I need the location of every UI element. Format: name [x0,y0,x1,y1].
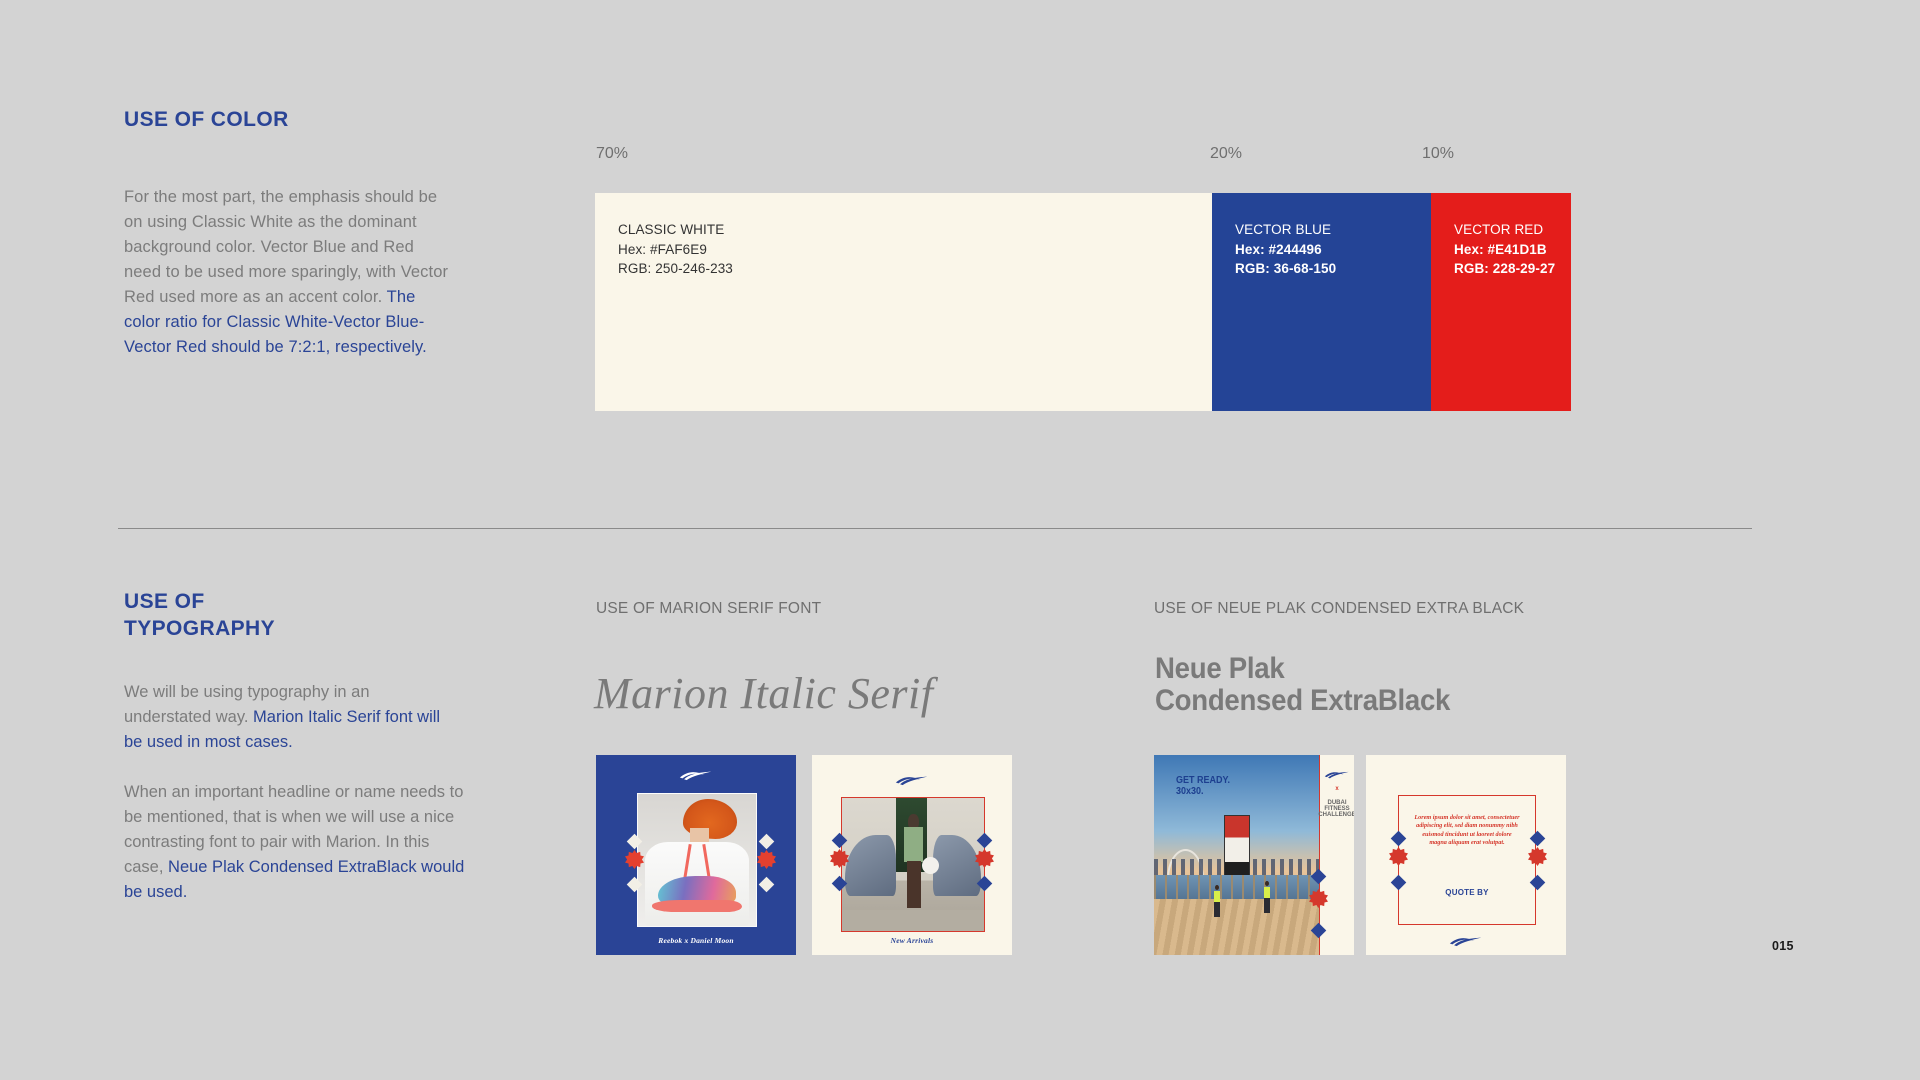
quote-frame: Lorem ipsum dolor sit amet, consectetuer… [1398,795,1536,925]
poster-sidebar: x DUBAI FITNESS CHALLENGE [1319,755,1354,955]
photo-helmet [922,857,939,874]
swatch-rgb: RGB: 250-246-233 [618,259,733,279]
brand-line3: CHALLENGE [1318,812,1354,818]
poster-photo-frame [841,797,985,932]
typography-body-copy-1: We will be using typography in an unders… [124,680,454,755]
brand-guidelines-page: USE OF COLOR For the most part, the emph… [0,0,1920,1080]
photo-sneaker [652,876,742,916]
rosette-decoration-icon [757,850,776,869]
thumbnail-reebok-daniel-moon[interactable]: Reebok x Daniel Moon [596,755,796,955]
swatch-name: VECTOR BLUE [1235,220,1336,240]
thumbnail-caption: Reebok x Daniel Moon [596,936,796,945]
typo-title-line2: TYPOGRAPHY [124,617,275,640]
swatch-rgb: RGB: 228-29-27 [1454,259,1555,279]
typography-body-copy-2: When an important headline or name needs… [124,780,469,905]
photo-runner [1264,887,1270,913]
rosette-decoration-icon [975,849,994,868]
swatch-vector-red: VECTOR RED Hex: #E41D1B RGB: 228-29-27 [1431,193,1571,411]
reebok-logo-icon [895,773,929,785]
specimen-caption-marion: USE OF MARION SERIF FONT [596,600,821,618]
swatch-vector-blue: VECTOR BLUE Hex: #244496 RGB: 36-68-150 [1212,193,1431,411]
quote-attribution: QUOTE BY [1399,888,1535,897]
use-of-color-body-copy: For the most part, the emphasis should b… [124,185,454,360]
typo-title-line1: USE OF [124,590,205,613]
specimen-sample-marion: Marion Italic Serif [594,668,933,719]
photo-ground [842,910,984,931]
specimen-sample-neue-plak: Neue Plak Condensed ExtraBlack [1155,653,1450,717]
plak-sample-line1: Neue Plak [1155,652,1284,685]
swatch-hex: Hex: #E41D1B [1454,240,1555,260]
rosette-decoration-icon [830,849,849,868]
ratio-label-red: 10% [1422,145,1454,163]
poster-headline: GET READY. 30x30. [1176,775,1230,797]
swatch-vector-blue-label: VECTOR BLUE Hex: #244496 RGB: 36-68-150 [1235,220,1336,279]
quote-text: Lorem ipsum dolor sit amet, consectetuer… [1413,814,1521,848]
plak-sample-line2: Condensed ExtraBlack [1155,684,1450,717]
reebok-logo-icon [1449,934,1483,946]
rosette-decoration-icon [625,850,644,869]
color-swatch-bar: CLASSIC WHITE Hex: #FAF6E9 RGB: 250-246-… [595,193,1571,411]
diamond-decoration-icon [759,877,775,893]
swatch-hex: Hex: #244496 [1235,240,1336,260]
reebok-logo-icon [679,768,713,780]
swatch-name: VECTOR RED [1454,220,1555,240]
typo-copy2-accent: Neue Plak Condensed ExtraBlack would be … [124,858,464,901]
page-number: 015 [1772,939,1794,953]
photo-runner [1214,891,1220,917]
poster-photo: GET READY. 30x30. [1154,755,1320,955]
ratio-label-white: 70% [596,145,628,163]
photo-boardwalk [1154,899,1320,955]
swatch-classic-white: CLASSIC WHITE Hex: #FAF6E9 RGB: 250-246-… [595,193,1212,411]
rosette-decoration-icon [1389,847,1408,866]
sidebar-brand-lockup: DUBAI FITNESS CHALLENGE [1318,800,1354,818]
specimen-caption-neue-plak: USE OF NEUE PLAK CONDENSED EXTRA BLACK [1154,600,1524,618]
diamond-decoration-icon [759,834,775,850]
section-divider [118,528,1752,529]
photo-person-legs [907,861,921,909]
reebok-logo-icon [1324,766,1354,778]
sneaker-sole [652,900,742,912]
swatch-classic-white-label: CLASSIC WHITE Hex: #FAF6E9 RGB: 250-246-… [618,220,733,279]
thumbnail-dubai-fitness-challenge[interactable]: GET READY. 30x30. x DUBAI FITNESS CHALLE… [1154,755,1354,955]
swatch-rgb: RGB: 36-68-150 [1235,259,1336,279]
thumbnail-new-arrivals[interactable]: New Arrivals [812,755,1012,955]
rosette-decoration-icon [1528,847,1547,866]
section-title-use-of-color: USE OF COLOR [124,108,289,132]
swatch-name: CLASSIC WHITE [618,220,733,240]
thumbnail-quote-card[interactable]: Lorem ipsum dolor sit amet, consectetuer… [1366,755,1566,955]
ratio-label-blue: 20% [1210,145,1242,163]
headline-line1: GET READY. [1176,775,1230,786]
headline-line2: 30x30. [1176,786,1204,797]
section-title-use-of-typography: USE OF TYPOGRAPHY [124,588,384,642]
photo-person-top [904,827,922,862]
photo-railing [1154,875,1320,899]
thumbnail-caption: New Arrivals [812,936,1012,945]
swatch-hex: Hex: #FAF6E9 [618,240,733,260]
poster-photo-frame [637,793,757,927]
sidebar-x-mark: x [1335,786,1338,792]
swatch-vector-red-label: VECTOR RED Hex: #E41D1B RGB: 228-29-27 [1454,220,1555,279]
rosette-decoration-icon [1309,889,1328,908]
